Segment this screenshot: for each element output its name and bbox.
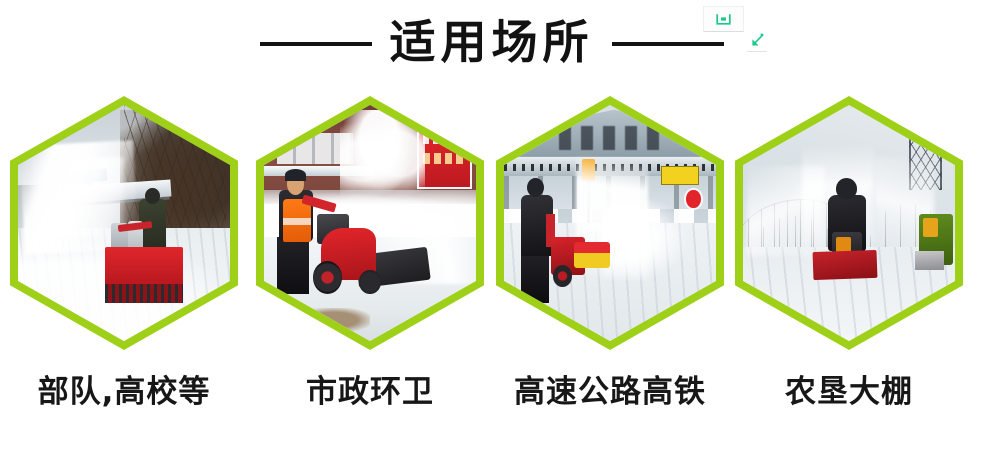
hexagon-card-3[interactable]: [496, 96, 740, 352]
photo-machine-wheel: [553, 265, 572, 286]
hexagon-card-1[interactable]: [10, 96, 254, 352]
arrow-down-left-icon: [750, 33, 765, 48]
tray-widget-button[interactable]: [703, 6, 744, 32]
photo-toll-gate-signage: [559, 126, 661, 150]
photo-operator-head: [145, 188, 160, 205]
photo-operator-legs: [521, 251, 549, 303]
photo-municipal-sanitation-worker-snow-sweeper: [264, 105, 476, 341]
caption-card-3: 高速公路高铁: [496, 356, 724, 420]
caption-row: 部队,高校等 市政环卫 高速公路高铁 农垦大棚: [0, 356, 983, 420]
caption-card-4: 农垦大棚: [735, 356, 963, 420]
photo-sweeper-wheel-rear: [359, 270, 380, 294]
hexagon-border-2: [256, 96, 484, 350]
hexagon-border-4: [735, 96, 963, 350]
photo-second-machine-panel: [923, 218, 938, 237]
hexagon-photo-clip-2: [264, 105, 476, 341]
photo-yellow-sign: [661, 166, 699, 185]
hexagon-photo-clip-3: [504, 105, 716, 341]
caption-card-1: 部队,高校等: [10, 356, 238, 420]
photo-machine-auger-drum: [574, 242, 610, 268]
hexagon-border-3: [496, 96, 724, 350]
photo-highway-toll-plaza-snow-blower: [504, 105, 716, 341]
photo-snow-plume-secondary: [31, 157, 124, 237]
collapse-widget-button[interactable]: [744, 28, 771, 52]
title-rule-right: [612, 42, 724, 46]
photo-farm-greenhouse-snow-clearing: [743, 105, 955, 341]
photo-machine-auger: [105, 284, 183, 303]
photo-worker-legs: [277, 237, 309, 294]
title-rule-left: [260, 42, 372, 46]
hexagon-photo-clip-4: [743, 105, 955, 341]
photo-exposed-pavement: [298, 308, 370, 332]
tray-icon: [716, 13, 731, 25]
photo-machine-red-blade: [812, 250, 877, 281]
page-title: 适用场所: [390, 19, 594, 69]
photo-machine-red-body: [105, 247, 183, 289]
hexagon-card-2[interactable]: [256, 96, 500, 352]
photo-worker-orange-vest: [283, 199, 311, 241]
photo-second-machine-blade: [915, 251, 945, 270]
hexagon-photo-clip-1: [18, 105, 230, 341]
photo-worker-cap: [285, 169, 306, 181]
hexagon-photo-row: [0, 96, 983, 352]
page-header: 适用场所: [0, 0, 983, 92]
hexagon-border-1: [10, 96, 238, 350]
photo-sweeper-wheel: [313, 261, 343, 294]
photo-army-snowblower-on-snowy-road: [18, 105, 230, 341]
photo-red-banner-sign: [417, 124, 472, 189]
hexagon-card-4[interactable]: [735, 96, 979, 352]
title-row: 适用场所: [0, 8, 983, 80]
caption-card-2: 市政环卫: [256, 356, 484, 420]
